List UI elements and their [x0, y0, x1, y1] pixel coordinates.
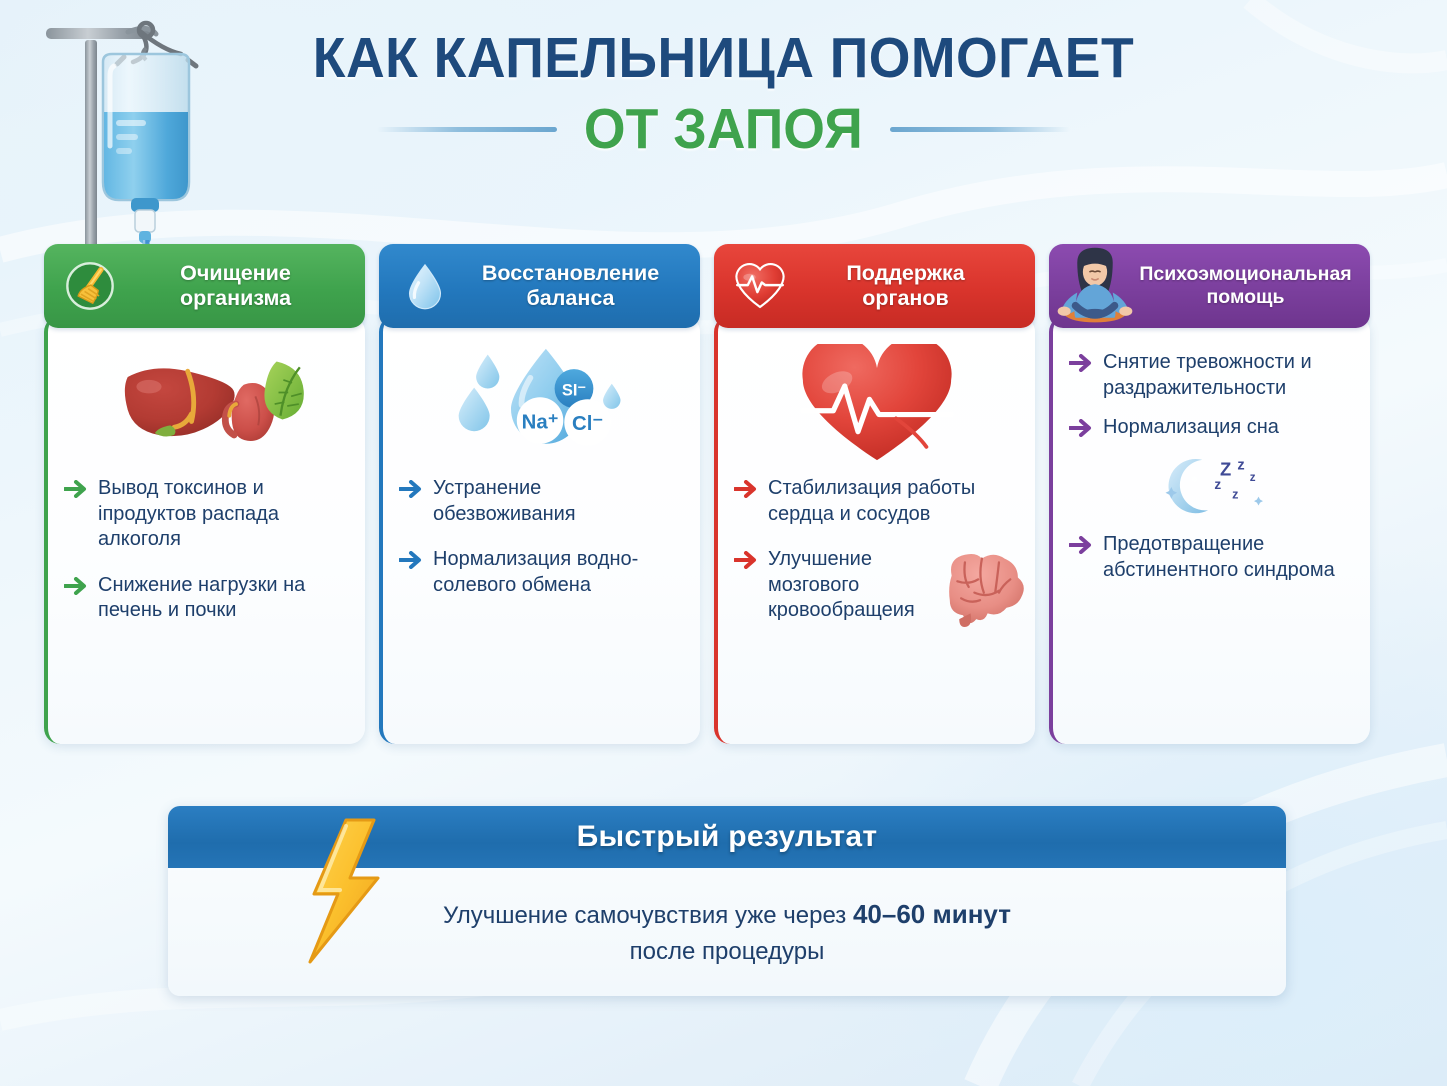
- card-cleansing-header: Очищениеорганизма: [44, 244, 365, 328]
- svg-text:Cl⁻: Cl⁻: [572, 413, 603, 435]
- svg-text:z: z: [1237, 458, 1244, 474]
- svg-text:Na⁺: Na⁺: [521, 411, 558, 433]
- card-balance-body: SI⁻ Na⁺ Cl⁻ Устранение обезвоживания: [379, 316, 700, 744]
- moon-sleep-icon: Z z z z z: [1069, 454, 1354, 516]
- benefit-cards: Очищениеорганизма: [44, 244, 1406, 744]
- card-organs[interactable]: Поддержкаорганов Стаби: [714, 244, 1035, 744]
- banner-body-prefix: Улучшение самочувствия уже через: [443, 902, 853, 929]
- meditating-woman-icon: [1053, 244, 1137, 328]
- title-rule-left: [377, 127, 557, 132]
- card-cleansing[interactable]: Очищениеорганизма: [44, 244, 365, 744]
- banner-body-line-2: после процедуры: [630, 934, 825, 970]
- title-rule-right: [890, 127, 1070, 132]
- arrow-right-icon: [734, 551, 758, 574]
- card-balance-header: Восстановлениебаланса: [379, 244, 700, 328]
- arrow-right-icon: [1069, 536, 1093, 559]
- card-cleansing-body: Вывод токсинов и іпродуктов распада алко…: [44, 316, 365, 744]
- arrow-right-icon: [64, 480, 88, 503]
- card-psycho-title: Психоэмоциональнаяпомощь: [1137, 263, 1358, 309]
- svg-text:z: z: [1232, 488, 1238, 502]
- card-balance[interactable]: Восстановлениебаланса: [379, 244, 700, 744]
- electrolyte-drops-icon: SI⁻ Na⁺ Cl⁻: [399, 342, 684, 470]
- bullet-item: Устранение обезвоживания: [399, 476, 684, 527]
- lightning-bolt-icon: [296, 816, 388, 966]
- bullet-item: Улучшение мозгового кровообращеия: [734, 547, 1019, 624]
- heart-pulse-icon: [728, 252, 792, 320]
- bullet-text: Вывод токсинов и іпродуктов распада алко…: [98, 476, 349, 553]
- bullet-text: Снятие тревожности и раздражительности: [1103, 350, 1354, 401]
- arrow-right-icon: [399, 551, 423, 574]
- card-organs-header: Поддержкаорганов: [714, 244, 1035, 328]
- bullet-item: Снятие тревожности и раздражительности: [1069, 350, 1354, 401]
- bullet-text: Стабилизация работы сердца и сосудов: [768, 476, 1019, 527]
- banner-body-line-1: Улучшение самочувствия уже через 40–60 м…: [443, 895, 1011, 934]
- card-organs-body: Стабилизация работы сердца и сосудов Улу…: [714, 316, 1035, 744]
- arrow-right-icon: [734, 480, 758, 503]
- bullet-text: Предотвращение абстинентного синдрома: [1103, 532, 1354, 583]
- bullet-item: Стабилизация работы сердца и сосудов: [734, 476, 1019, 527]
- bullet-item: Вывод токсинов и іпродуктов распада алко…: [64, 476, 349, 553]
- card-psycho-body: Снятие тревожности и раздражительности Н…: [1049, 316, 1370, 744]
- heart-pulse-large-icon: [734, 342, 1019, 470]
- page-title: КАК КАПЕЛЬНИЦА ПОМОГАЕТ ОТ ЗАПОЯ: [0, 30, 1447, 158]
- title-line-2: ОТ ЗАПОЯ: [584, 101, 863, 158]
- bullet-text: Нормализация сна: [1103, 415, 1279, 441]
- title-line-1: КАК КАПЕЛЬНИЦА ПОМОГАЕТ: [43, 30, 1403, 87]
- bullet-text: Улучшение мозгового кровообращеия: [768, 547, 946, 624]
- arrow-right-icon: [1069, 354, 1093, 377]
- bullet-text: Нормализация водно-солевого обмена: [433, 547, 684, 598]
- card-organs-title: Поддержкаорганов: [792, 261, 1023, 312]
- svg-text:z: z: [1214, 477, 1221, 492]
- bullet-item: Снижение нагрузки на печень и почки: [64, 573, 349, 624]
- water-drop-icon: [393, 252, 457, 320]
- bullet-item: Нормализация сна: [1069, 415, 1354, 442]
- fast-result-banner[interactable]: Быстрый результат Улучшение самочувствия…: [168, 806, 1286, 996]
- svg-text:z: z: [1249, 471, 1255, 484]
- card-balance-title: Восстановлениебаланса: [457, 261, 688, 312]
- card-psycho-header: Психоэмоциональнаяпомощь: [1049, 244, 1370, 328]
- arrow-right-icon: [64, 577, 88, 600]
- liver-kidney-leaf-icon: [64, 342, 349, 470]
- broom-icon: [58, 252, 122, 320]
- arrow-right-icon: [399, 480, 423, 503]
- bullet-text: Устранение обезвоживания: [433, 476, 684, 527]
- arrow-right-icon: [1069, 419, 1093, 442]
- banner-heading: Быстрый результат: [577, 820, 878, 854]
- banner-body-highlight: 40–60 минут: [853, 899, 1011, 929]
- bullet-text: Снижение нагрузки на печень и почки: [98, 573, 349, 624]
- bullet-item: Предотвращение абстинентного синдрома: [1069, 532, 1354, 583]
- svg-text:SI⁻: SI⁻: [561, 381, 585, 399]
- bullet-item: Нормализация водно-солевого обмена: [399, 547, 684, 598]
- card-cleansing-title: Очищениеорганизма: [122, 261, 353, 312]
- brain-icon: [929, 543, 1033, 634]
- card-psycho[interactable]: Психоэмоциональнаяпомощь Снятие тревожно…: [1049, 244, 1370, 744]
- svg-text:Z: Z: [1219, 459, 1230, 480]
